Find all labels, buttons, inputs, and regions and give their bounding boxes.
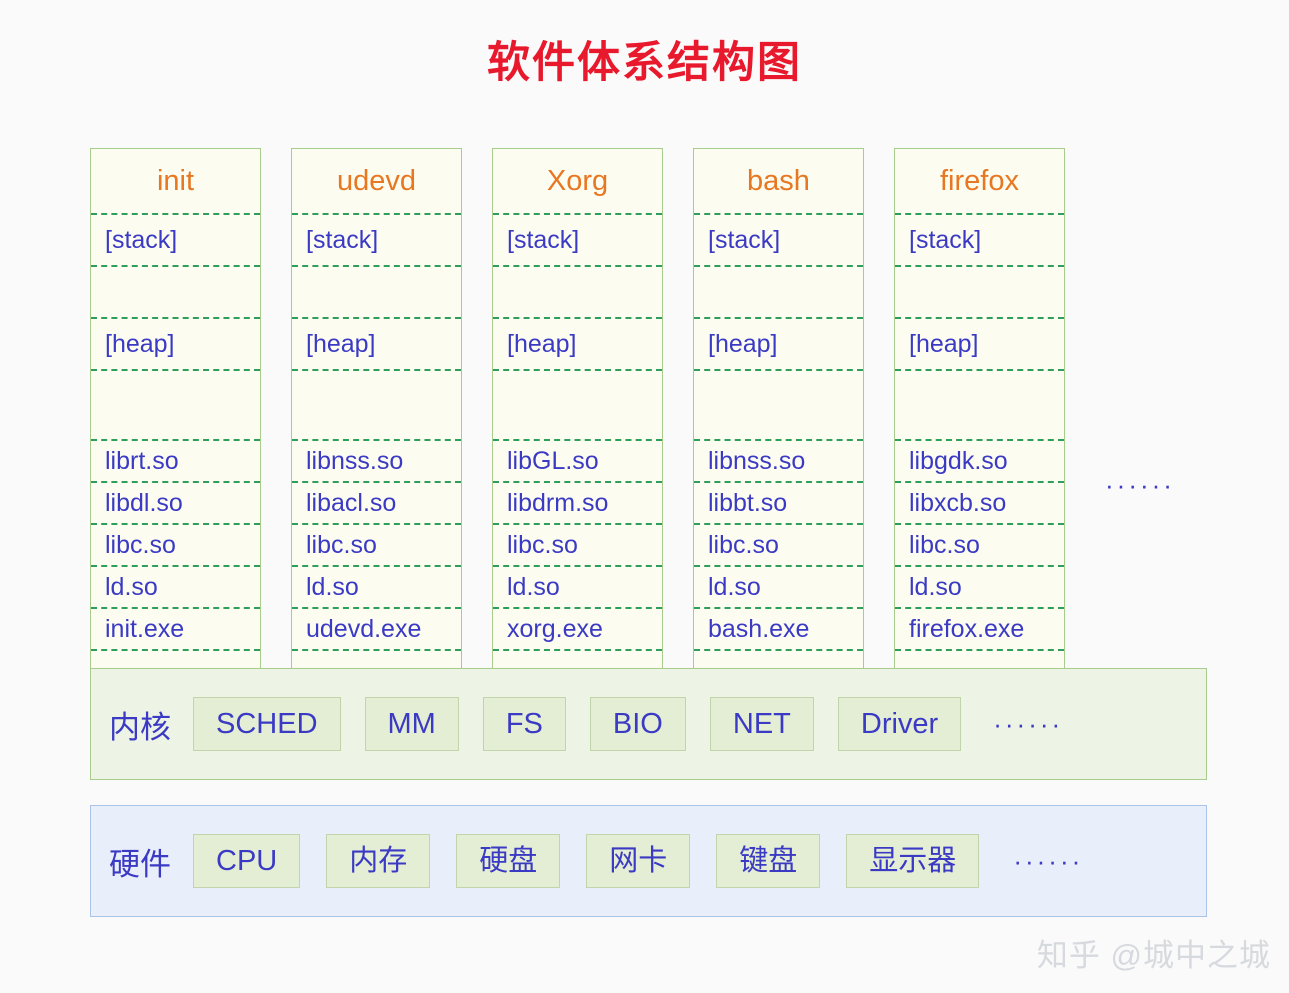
process-region-library: libacl.so (292, 481, 461, 523)
hardware-layer-band: 硬件 CPU 内存 硬盘 网卡 键盘 显示器 ······ (90, 805, 1207, 917)
process-more-ellipsis: ······ (1105, 470, 1175, 501)
kernel-module-mm[interactable]: MM (365, 697, 459, 751)
process-column-firefox: firefox [stack] [heap] libgdk.so libxcb.… (894, 148, 1065, 690)
process-region-gap-upper (694, 265, 863, 317)
process-region-gap-upper (895, 265, 1064, 317)
process-region-library: libdl.so (91, 481, 260, 523)
process-region-gap-upper (292, 265, 461, 317)
process-region-library: ld.so (694, 565, 863, 607)
process-region-library: ld.so (292, 565, 461, 607)
hardware-layer-label: 硬件 (109, 839, 171, 884)
process-region-library: librt.so (91, 439, 260, 481)
process-region-library: libc.so (694, 523, 863, 565)
process-column-bash: bash [stack] [heap] libnss.so libbt.so l… (693, 148, 864, 690)
process-region-library: libxcb.so (895, 481, 1064, 523)
process-region-gap-lower (493, 369, 662, 439)
hardware-device-monitor[interactable]: 显示器 (846, 834, 979, 888)
hardware-device-keyboard[interactable]: 键盘 (716, 834, 820, 888)
process-region-gap-lower (694, 369, 863, 439)
kernel-module-bio[interactable]: BIO (590, 697, 686, 751)
process-name: Xorg (493, 149, 662, 213)
process-region-heap: [heap] (91, 317, 260, 369)
process-region-library: libc.so (895, 523, 1064, 565)
process-region-gap-lower (895, 369, 1064, 439)
process-region-executable: init.exe (91, 607, 260, 649)
watermark: 知乎 @城中之城 (1037, 930, 1271, 975)
process-region-heap: [heap] (694, 317, 863, 369)
process-region-stack: [stack] (292, 213, 461, 265)
process-region-library: libgdk.so (895, 439, 1064, 481)
kernel-module-net[interactable]: NET (710, 697, 814, 751)
process-region-heap: [heap] (493, 317, 662, 369)
process-region-gap-lower (91, 369, 260, 439)
process-region-library: libc.so (91, 523, 260, 565)
process-name: init (91, 149, 260, 213)
process-column-udevd: udevd [stack] [heap] libnss.so libacl.so… (291, 148, 462, 690)
kernel-module-fs[interactable]: FS (483, 697, 566, 751)
process-region-stack: [stack] (91, 213, 260, 265)
process-columns-band: init [stack] [heap] librt.so libdl.so li… (90, 148, 1200, 636)
kernel-module-driver[interactable]: Driver (838, 697, 961, 751)
page-title: 软件体系结构图 (0, 38, 1289, 90)
process-region-library: libc.so (493, 523, 662, 565)
process-region-executable: udevd.exe (292, 607, 461, 649)
process-region-library: libdrm.so (493, 481, 662, 523)
process-region-heap: [heap] (292, 317, 461, 369)
process-name: firefox (895, 149, 1064, 213)
process-region-gap-lower (292, 369, 461, 439)
process-name: udevd (292, 149, 461, 213)
process-region-gap-upper (493, 265, 662, 317)
process-region-stack: [stack] (895, 213, 1064, 265)
hardware-device-nic[interactable]: 网卡 (586, 834, 690, 888)
process-region-library: libbt.so (694, 481, 863, 523)
process-region-library: libGL.so (493, 439, 662, 481)
hardware-device-disk[interactable]: 硬盘 (456, 834, 560, 888)
process-name: bash (694, 149, 863, 213)
kernel-module-sched[interactable]: SCHED (193, 697, 341, 751)
process-column-xorg: Xorg [stack] [heap] libGL.so libdrm.so l… (492, 148, 663, 690)
process-region-library: ld.so (493, 565, 662, 607)
hardware-device-memory[interactable]: 内存 (326, 834, 430, 888)
hardware-more-ellipsis: ······ (1013, 846, 1083, 877)
process-region-library: ld.so (895, 565, 1064, 607)
process-region-library: ld.so (91, 565, 260, 607)
process-region-library: libnss.so (292, 439, 461, 481)
process-region-stack: [stack] (694, 213, 863, 265)
process-region-executable: bash.exe (694, 607, 863, 649)
process-region-library: libnss.so (694, 439, 863, 481)
process-region-executable: firefox.exe (895, 607, 1064, 649)
process-column-init: init [stack] [heap] librt.so libdl.so li… (90, 148, 261, 690)
process-region-gap-upper (91, 265, 260, 317)
process-region-stack: [stack] (493, 213, 662, 265)
kernel-more-ellipsis: ······ (993, 709, 1063, 740)
process-region-library: libc.so (292, 523, 461, 565)
kernel-layer-label: 内核 (109, 702, 171, 747)
hardware-device-cpu[interactable]: CPU (193, 834, 300, 888)
kernel-layer-band: 内核 SCHED MM FS BIO NET Driver ······ (90, 668, 1207, 780)
process-region-heap: [heap] (895, 317, 1064, 369)
process-region-executable: xorg.exe (493, 607, 662, 649)
